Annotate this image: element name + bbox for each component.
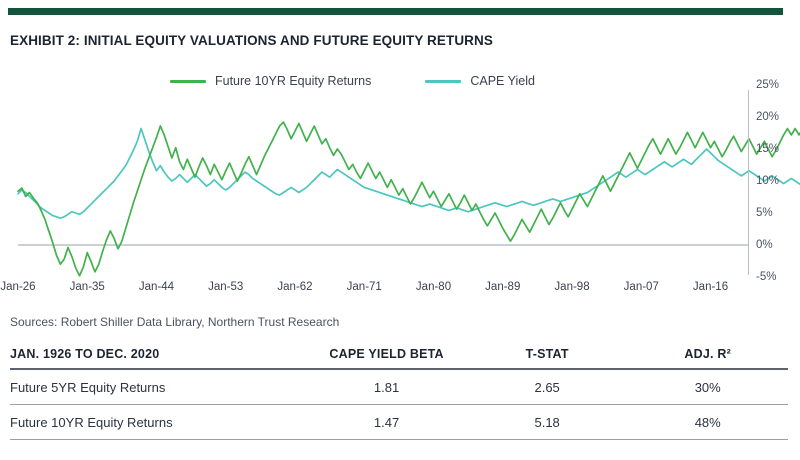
legend-swatch-teal [425,80,461,83]
chart-plot-area [18,85,749,277]
regression-stats-table: JAN. 1926 TO DEC. 2020 CAPE YIELD BETA T… [10,340,788,440]
x-tick-label: Jan-89 [485,281,520,293]
row-beta-future-5yr: 1.81 [306,380,467,395]
series-line-future-10yr-equity-returns [18,120,800,276]
row-beta-future-10yr: 1.47 [306,415,467,430]
table-header-t-stat: T-STAT [467,347,628,361]
table-row: Future 5YR Equity Returns 1.81 2.65 30% [10,370,788,404]
table-row: Future 10YR Equity Returns 1.47 5.18 48% [10,405,788,439]
y-tick-label: 5% [756,207,798,219]
x-tick-label: Jan-35 [70,281,105,293]
table-rule-bottom [10,439,788,440]
header-accent-bar [8,8,783,15]
x-tick-label: Jan-62 [277,281,312,293]
y-axis-line [748,90,749,275]
line-chart: 25%20%15%10%5%0%-5% Jan-26Jan-35Jan-44Ja… [0,85,800,290]
x-tick-label: Jan-98 [554,281,589,293]
table-header-period: JAN. 1926 TO DEC. 2020 [10,347,306,361]
x-tick-label: Jan-53 [208,281,243,293]
x-tick-label: Jan-44 [139,281,174,293]
table-header-row: JAN. 1926 TO DEC. 2020 CAPE YIELD BETA T… [10,340,788,368]
x-tick-label: Jan-16 [693,281,728,293]
x-tick-label: Jan-07 [624,281,659,293]
row-label-future-5yr: Future 5YR Equity Returns [10,380,306,395]
sources-note: Sources: Robert Shiller Data Library, No… [10,315,339,329]
table-header-cape-yield-beta: CAPE YIELD BETA [306,347,467,361]
row-adjr2-future-10yr: 48% [627,415,788,430]
table-header-adj-r2: ADJ. R² [627,347,788,361]
exhibit-figure: EXHIBIT 2: INITIAL EQUITY VALUATIONS AND… [0,0,800,460]
y-tick-label: 10% [756,175,798,187]
x-tick-label: Jan-80 [416,281,451,293]
y-tick-label: 25% [756,79,798,91]
chart-svg [18,85,749,277]
x-tick-label: Jan-71 [347,281,382,293]
y-tick-label: 15% [756,143,798,155]
legend-swatch-green [170,80,206,83]
y-tick-label: 20% [756,111,798,123]
y-tick-label: -5% [756,271,798,283]
row-adjr2-future-5yr: 30% [627,380,788,395]
row-label-future-10yr: Future 10YR Equity Returns [10,415,306,430]
row-tstat-future-5yr: 2.65 [467,380,628,395]
row-tstat-future-10yr: 5.18 [467,415,628,430]
y-tick-label: 0% [756,239,798,251]
x-tick-label: Jan-26 [0,281,35,293]
page-title: EXHIBIT 2: INITIAL EQUITY VALUATIONS AND… [10,33,493,48]
